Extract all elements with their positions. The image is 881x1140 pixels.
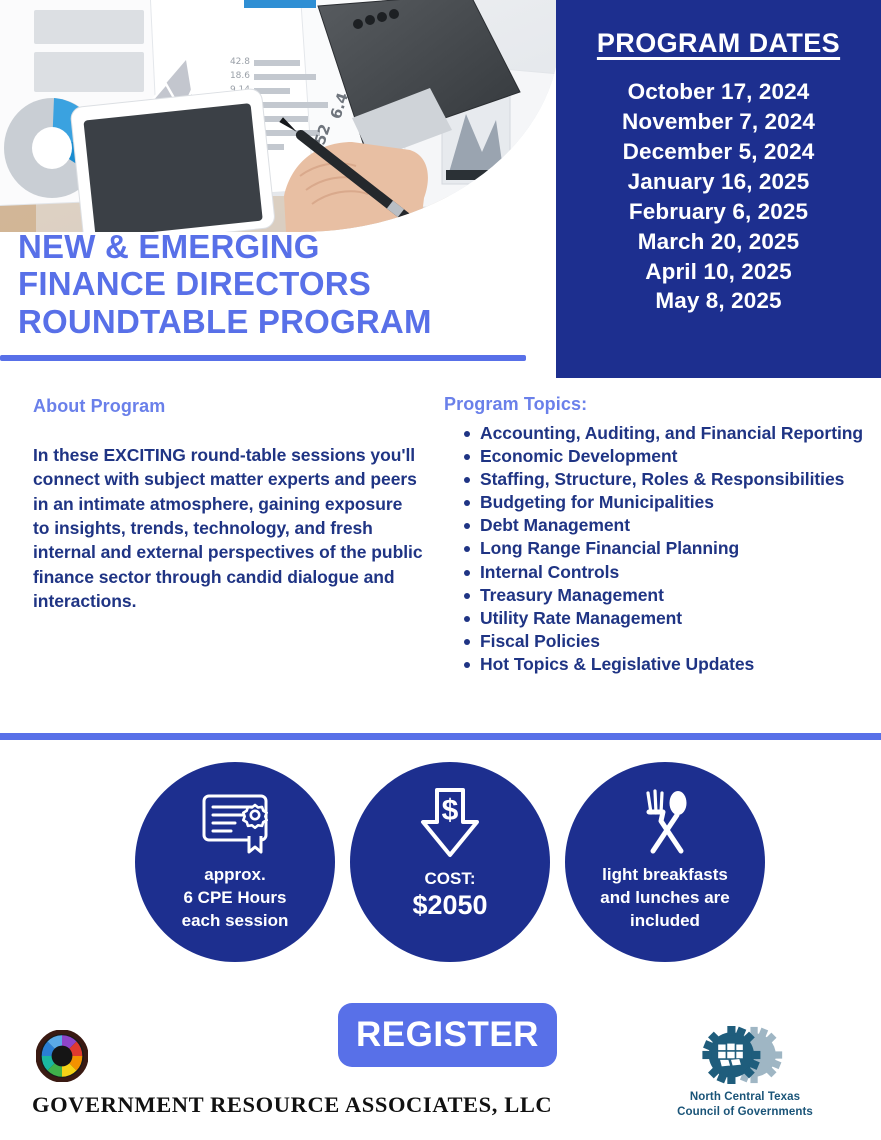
topic-item: Debt Management	[444, 514, 864, 537]
program-dates-heading: PROGRAM DATES	[568, 28, 869, 59]
topic-item: Accounting, Auditing, and Financial Repo…	[444, 422, 864, 445]
nctcog-name: North Central Texas Council of Governmen…	[650, 1090, 840, 1120]
date-item: November 7, 2024	[568, 107, 869, 137]
about-program-body: In these EXCITING round-table sessions y…	[33, 443, 423, 613]
title-line-1: NEW & EMERGING	[18, 228, 548, 265]
program-topics-section: Program Topics: Accounting, Auditing, an…	[444, 394, 864, 676]
camera-aperture-logo-icon	[36, 1030, 88, 1082]
program-dates-panel: PROGRAM DATES October 17, 2024 November …	[556, 0, 881, 378]
flyer-page: 42.8 18.6 9.14 31.5 27.2 55.0 58 12.3 52…	[0, 0, 881, 1140]
topic-item: Treasury Management	[444, 584, 864, 607]
badge-cpe-text: approx. 6 CPE Hours each session	[168, 864, 303, 933]
about-program-section: About Program In these EXCITING round-ta…	[33, 396, 423, 613]
badge-cpe-line-1: approx.	[182, 864, 289, 887]
topic-item: Staffing, Structure, Roles & Responsibil…	[444, 468, 864, 491]
nctcog-line-1: North Central Texas	[650, 1090, 840, 1105]
double-gear-logo-icon	[690, 1026, 800, 1084]
date-item: March 20, 2025	[568, 227, 869, 257]
title-line-3: ROUNDTABLE PROGRAM	[18, 303, 548, 340]
hero-photo-illustration: 42.8 18.6 9.14 31.5 27.2 55.0 58 12.3 52…	[0, 0, 560, 232]
badge-cpe-line-3: each session	[182, 910, 289, 933]
badge-meals-line-3: included	[600, 910, 729, 933]
topic-item: Fiscal Policies	[444, 630, 864, 653]
program-topics-heading: Program Topics:	[444, 394, 864, 415]
date-item: December 5, 2024	[568, 137, 869, 167]
svg-text:$: $	[442, 794, 459, 827]
section-divider-bar	[0, 733, 881, 740]
topic-item: Hot Topics & Legislative Updates	[444, 653, 864, 676]
program-dates-list: October 17, 2024 November 7, 2024 Decemb…	[568, 77, 869, 316]
gra-company-name: GOVERNMENT RESOURCE ASSOCIATES, LLC	[32, 1092, 572, 1118]
hero-photo: 42.8 18.6 9.14 31.5 27.2 55.0 58 12.3 52…	[0, 0, 560, 232]
badge-cpe-hours: approx. 6 CPE Hours each session	[135, 762, 335, 962]
title-underline-rule	[0, 355, 526, 361]
nctcog-line-2: Council of Governments	[650, 1105, 840, 1120]
nctcog-logo: North Central Texas Council of Governmen…	[650, 1026, 840, 1120]
badges-row: approx. 6 CPE Hours each session $ COST:…	[0, 756, 881, 981]
badge-meals-line-1: light breakfasts	[600, 864, 729, 887]
badge-cost: $ COST: $2050	[350, 762, 550, 962]
badge-cost-value: $2050	[412, 890, 487, 921]
topic-item: Budgeting for Municipalities	[444, 491, 864, 514]
badge-meals: light breakfasts and lunches are include…	[565, 762, 765, 962]
gra-logo: GOVERNMENT RESOURCE ASSOCIATES, LLC	[32, 1030, 572, 1118]
date-item: April 10, 2025	[568, 257, 869, 287]
topic-item: Internal Controls	[444, 561, 864, 584]
date-item: October 17, 2024	[568, 77, 869, 107]
topic-item: Utility Rate Management	[444, 607, 864, 630]
topic-item: Economic Development	[444, 445, 864, 468]
title-line-2: FINANCE DIRECTORS	[18, 265, 548, 302]
program-topics-list: Accounting, Auditing, and Financial Repo…	[444, 422, 864, 676]
date-item: January 16, 2025	[568, 167, 869, 197]
certificate-award-icon	[199, 788, 271, 858]
date-item: February 6, 2025	[568, 197, 869, 227]
svg-text:18.6: 18.6	[230, 71, 250, 81]
dollar-down-arrow-icon: $	[418, 788, 482, 858]
fork-and-spoon-icon	[636, 788, 694, 858]
badge-meals-line-2: and lunches are	[600, 887, 729, 910]
date-item: May 8, 2025	[568, 286, 869, 316]
flyer-title: NEW & EMERGING FINANCE DIRECTORS ROUNDTA…	[18, 228, 548, 340]
badge-cpe-line-2: 6 CPE Hours	[182, 887, 289, 910]
about-program-heading: About Program	[33, 396, 423, 417]
badge-meals-text: light breakfasts and lunches are include…	[586, 864, 743, 933]
badge-cost-label: COST:	[425, 868, 476, 890]
topic-item: Long Range Financial Planning	[444, 537, 864, 560]
svg-text:42.8: 42.8	[230, 57, 250, 67]
